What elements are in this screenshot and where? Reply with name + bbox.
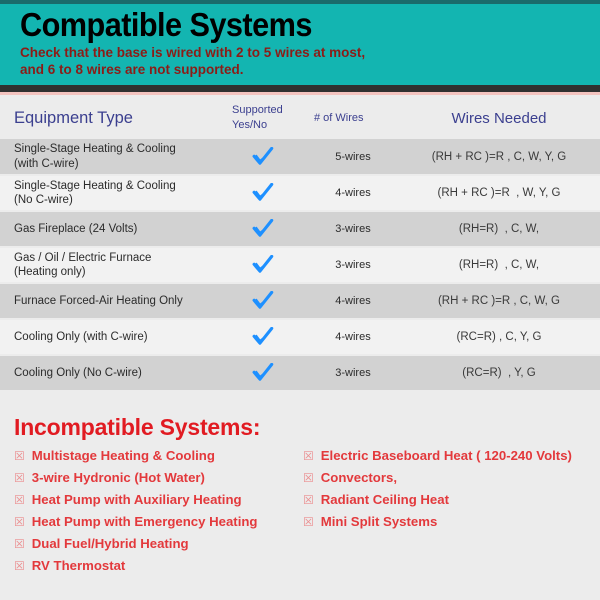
incompatible-systems-section: Incompatible Systems: ☒ Multistage Heati… bbox=[0, 392, 600, 577]
list-item: ☒ Heat Pump with Emergency Heating bbox=[14, 511, 300, 533]
blue-check-icon bbox=[252, 327, 274, 347]
equipment-name-line1: Gas / Oil / Electric Furnace bbox=[14, 251, 218, 266]
compatibility-infographic: Compatible Systems Check that the base i… bbox=[0, 0, 600, 600]
cell-wires-needed: (RH=R) , C, W, bbox=[398, 247, 600, 283]
table-body: Single-Stage Heating & Cooling (with C-w… bbox=[0, 139, 600, 391]
page-title: Compatible Systems bbox=[20, 8, 559, 43]
incompatible-systems-title: Incompatible Systems: bbox=[14, 414, 600, 441]
table-row: Gas Fireplace (24 Volts) 3-wires (RH=R) … bbox=[0, 211, 600, 247]
cell-supported bbox=[218, 175, 308, 211]
incompatible-left-list: ☒ Multistage Heating & Cooling ☒ 3-wire … bbox=[14, 445, 300, 577]
cell-wires-needed: (RH=R) , C, W, bbox=[398, 211, 600, 247]
cell-equipment-type: Cooling Only (No C-wire) bbox=[0, 355, 218, 391]
list-item-label: Convectors, bbox=[321, 467, 397, 489]
list-item-label: Mini Split Systems bbox=[321, 511, 438, 533]
cell-equipment-type: Gas Fireplace (24 Volts) bbox=[0, 211, 218, 247]
incompatible-right-list: ☒ Electric Baseboard Heat ( 120-240 Volt… bbox=[303, 445, 600, 533]
list-item: ☒ Electric Baseboard Heat ( 120-240 Volt… bbox=[303, 445, 600, 467]
header-subtitle-line1: Check that the base is wired with 2 to 5… bbox=[20, 44, 600, 62]
list-item-label: Heat Pump with Auxiliary Heating bbox=[32, 489, 242, 511]
ballot-x-icon: ☒ bbox=[14, 533, 25, 555]
table-header-row: Equipment Type Supported Yes/No # of Wir… bbox=[0, 97, 600, 139]
ballot-x-icon: ☒ bbox=[303, 445, 314, 467]
blue-check-icon bbox=[252, 291, 274, 311]
cell-wires-needed: (RH + RC )=R , C, W, G bbox=[398, 283, 600, 319]
list-item: ☒ Radiant Ceiling Heat bbox=[303, 489, 600, 511]
cell-num-wires: 4-wires bbox=[308, 283, 398, 319]
list-item: ☒ RV Thermostat bbox=[14, 555, 300, 577]
equipment-name-line1: Cooling Only (No C-wire) bbox=[14, 366, 218, 381]
table-row: Single-Stage Heating & Cooling (No C-wir… bbox=[0, 175, 600, 211]
ballot-x-icon: ☒ bbox=[14, 511, 25, 533]
ballot-x-icon: ☒ bbox=[303, 511, 314, 533]
ballot-x-icon: ☒ bbox=[14, 489, 25, 511]
cell-wires-needed: (RH + RC )=R , C, W, Y, G bbox=[398, 139, 600, 175]
ballot-x-icon: ☒ bbox=[14, 445, 25, 467]
list-item-label: Multistage Heating & Cooling bbox=[32, 445, 215, 467]
table-row: Furnace Forced-Air Heating Only 4-wires … bbox=[0, 283, 600, 319]
table-row: Gas / Oil / Electric Furnace (Heating on… bbox=[0, 247, 600, 283]
column-header-wires-needed: Wires Needed bbox=[398, 97, 600, 139]
list-item: ☒ Mini Split Systems bbox=[303, 511, 600, 533]
list-item-label: Radiant Ceiling Heat bbox=[321, 489, 449, 511]
list-item: ☒ Convectors, bbox=[303, 467, 600, 489]
header-subtitle: Check that the base is wired with 2 to 5… bbox=[20, 44, 600, 80]
cell-supported bbox=[218, 355, 308, 391]
column-header-supported-line1: Supported bbox=[232, 103, 308, 118]
blue-check-icon bbox=[252, 363, 274, 383]
header-dark-divider bbox=[0, 85, 600, 92]
table-row: Single-Stage Heating & Cooling (with C-w… bbox=[0, 139, 600, 175]
equipment-name-line2: (Heating only) bbox=[14, 265, 218, 280]
header-subtitle-line2: and 6 to 8 wires are not supported. bbox=[20, 61, 600, 79]
equipment-name-line1: Single-Stage Heating & Cooling bbox=[14, 179, 218, 194]
ballot-x-icon: ☒ bbox=[14, 467, 25, 489]
cell-supported bbox=[218, 139, 308, 175]
compatible-systems-table: Equipment Type Supported Yes/No # of Wir… bbox=[0, 97, 600, 392]
incompatible-right-column: ☒ Electric Baseboard Heat ( 120-240 Volt… bbox=[300, 445, 600, 533]
equipment-name-line2: (No C-wire) bbox=[14, 193, 218, 208]
cell-supported bbox=[218, 319, 308, 355]
column-header-supported-line2: Yes/No bbox=[232, 118, 308, 133]
equipment-name-line2: (with C-wire) bbox=[14, 157, 218, 172]
column-header-supported: Supported Yes/No bbox=[218, 97, 308, 139]
list-item-label: Heat Pump with Emergency Heating bbox=[32, 511, 258, 533]
equipment-name-line1: Single-Stage Heating & Cooling bbox=[14, 142, 218, 157]
column-header-num-wires: # of Wires bbox=[308, 97, 398, 139]
cell-num-wires: 3-wires bbox=[308, 355, 398, 391]
cell-supported bbox=[218, 283, 308, 319]
list-item: ☒ 3-wire Hydronic (Hot Water) bbox=[14, 467, 300, 489]
cell-equipment-type: Gas / Oil / Electric Furnace (Heating on… bbox=[0, 247, 218, 283]
ballot-x-icon: ☒ bbox=[303, 489, 314, 511]
blue-check-icon bbox=[252, 183, 274, 203]
cell-supported bbox=[218, 211, 308, 247]
header-banner: Compatible Systems Check that the base i… bbox=[0, 4, 600, 85]
cell-wires-needed: (RH + RC )=R , W, Y, G bbox=[398, 175, 600, 211]
equipment-name-line1: Cooling Only (with C-wire) bbox=[14, 330, 218, 345]
cell-num-wires: 3-wires bbox=[308, 247, 398, 283]
list-item-label: 3-wire Hydronic (Hot Water) bbox=[32, 467, 205, 489]
equipment-name-line1: Furnace Forced-Air Heating Only bbox=[14, 294, 218, 309]
cell-equipment-type: Single-Stage Heating & Cooling (with C-w… bbox=[0, 139, 218, 175]
blue-check-icon bbox=[252, 147, 274, 167]
ballot-x-icon: ☒ bbox=[14, 555, 25, 577]
blue-check-icon bbox=[252, 255, 274, 275]
list-item: ☒ Dual Fuel/Hybrid Heating bbox=[14, 533, 300, 555]
cell-num-wires: 5-wires bbox=[308, 139, 398, 175]
cell-num-wires: 4-wires bbox=[308, 175, 398, 211]
list-item-label: RV Thermostat bbox=[32, 555, 126, 577]
column-header-equipment-type: Equipment Type bbox=[0, 97, 218, 139]
cell-equipment-type: Cooling Only (with C-wire) bbox=[0, 319, 218, 355]
incompatible-columns: ☒ Multistage Heating & Cooling ☒ 3-wire … bbox=[0, 445, 600, 577]
cell-wires-needed: (RC=R) , C, Y, G bbox=[398, 319, 600, 355]
table-row: Cooling Only (No C-wire) 3-wires (RC=R) … bbox=[0, 355, 600, 391]
incompatible-left-column: ☒ Multistage Heating & Cooling ☒ 3-wire … bbox=[0, 445, 300, 577]
table-row: Cooling Only (with C-wire) 4-wires (RC=R… bbox=[0, 319, 600, 355]
cell-wires-needed: (RC=R) , Y, G bbox=[398, 355, 600, 391]
list-item-label: Electric Baseboard Heat ( 120-240 Volts) bbox=[321, 445, 572, 467]
equipment-name-line1: Gas Fireplace (24 Volts) bbox=[14, 222, 218, 237]
cell-num-wires: 4-wires bbox=[308, 319, 398, 355]
cell-num-wires: 3-wires bbox=[308, 211, 398, 247]
list-item: ☒ Heat Pump with Auxiliary Heating bbox=[14, 489, 300, 511]
list-item: ☒ Multistage Heating & Cooling bbox=[14, 445, 300, 467]
blue-check-icon bbox=[252, 219, 274, 239]
cell-equipment-type: Furnace Forced-Air Heating Only bbox=[0, 283, 218, 319]
list-item-label: Dual Fuel/Hybrid Heating bbox=[32, 533, 189, 555]
cell-supported bbox=[218, 247, 308, 283]
cell-equipment-type: Single-Stage Heating & Cooling (No C-wir… bbox=[0, 175, 218, 211]
ballot-x-icon: ☒ bbox=[303, 467, 314, 489]
